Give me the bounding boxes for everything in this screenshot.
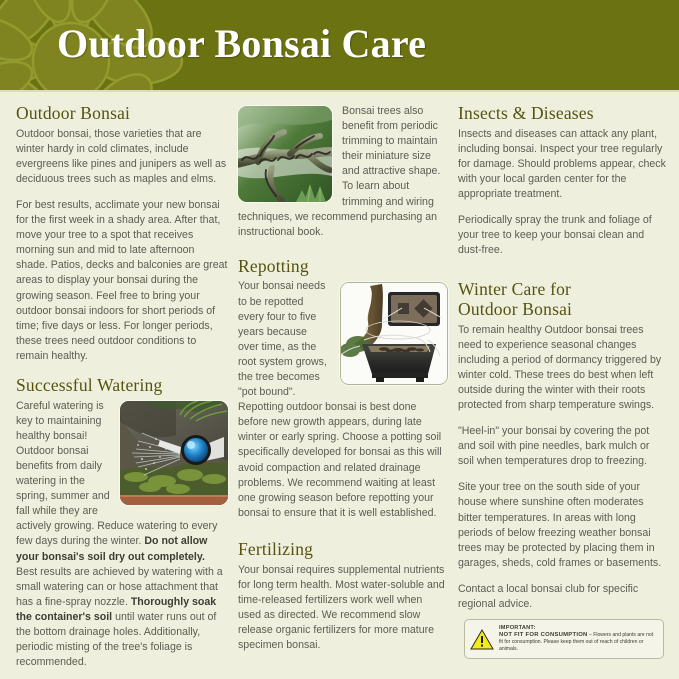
paragraph-winter-2: "Heel-in" your bonsai by covering the po… <box>458 424 666 469</box>
heading-repotting: Repotting <box>238 257 448 277</box>
infographic-page: Outdoor Bonsai Care Outdoor Bonsai Outdo… <box>0 0 679 679</box>
paragraph-winter-1: To remain healthy Outdoor bonsai trees n… <box>458 323 666 414</box>
heading-winter-care-line1: Winter Care for <box>458 279 571 299</box>
right-column: Insects & Diseases Insects and diseases … <box>458 104 666 612</box>
warning-line-1: IMPORTANT: <box>499 625 658 632</box>
paragraph-insects-1: Insects and diseases can attack any plan… <box>458 127 666 202</box>
left-column: Outdoor Bonsai Outdoor bonsai, those var… <box>16 104 228 670</box>
header-divider <box>0 90 679 92</box>
warning-line-2: NOT FIT FOR CONSUMPTION <box>499 632 588 638</box>
page-header: Outdoor Bonsai Care <box>0 0 679 92</box>
heading-fertilizing: Fertilizing <box>238 540 448 560</box>
middle-column: Bonsai trees also benefit from periodic … <box>238 104 448 653</box>
paragraph-winter-4: Contact a local bonsai club for specific… <box>458 582 666 612</box>
paragraph-outdoor-1: Outdoor bonsai, those varieties that are… <box>16 127 228 187</box>
bonsai-repotting-pot-photo <box>340 282 448 385</box>
warning-triangle-icon <box>470 629 494 650</box>
paragraph-insects-2: Periodically spray the trunk and foliage… <box>458 213 666 258</box>
warning-box: IMPORTANT:NOT FIT FOR CONSUMPTION – Flow… <box>464 619 664 659</box>
watering-hose-photo <box>120 401 228 505</box>
bonsai-branch-wiring-photo <box>238 106 332 202</box>
heading-insects-diseases: Insects & Diseases <box>458 104 666 124</box>
page-title: Outdoor Bonsai Care <box>57 20 426 67</box>
heading-successful-watering: Successful Watering <box>16 376 228 396</box>
heading-outdoor-bonsai: Outdoor Bonsai <box>16 104 228 124</box>
paragraph-winter-3: Site your tree on the south side of your… <box>458 480 666 571</box>
paragraph-fertilizing: Your bonsai requires supplemental nutrie… <box>238 563 448 654</box>
warning-text: IMPORTANT:NOT FIT FOR CONSUMPTION – Flow… <box>499 625 658 654</box>
paragraph-outdoor-2: For best results, acclimate your new bon… <box>16 198 228 364</box>
heading-winter-care: Winter Care for Outdoor Bonsai <box>458 280 666 319</box>
heading-winter-care-line2: Outdoor Bonsai <box>458 299 572 319</box>
